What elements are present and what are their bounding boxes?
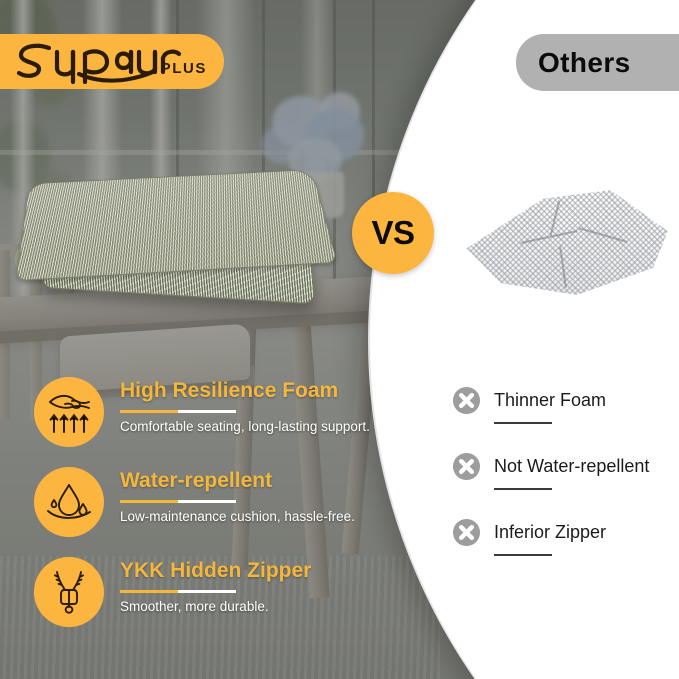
- drawback-row: Inferior Zipper: [452, 518, 672, 547]
- circle-x-icon: [452, 518, 481, 547]
- feature-list: High Resilience Foam Comfortable seating…: [34, 375, 384, 645]
- zipper-icon: [34, 557, 104, 627]
- drawback-item-not-water-repellent: Not Water-repellent: [452, 452, 672, 518]
- hand-on-foam-glyph: [45, 388, 93, 436]
- drawback-row: Thinner Foam: [452, 386, 672, 415]
- zipper-glyph: [45, 568, 93, 616]
- drawback-label: Not Water-repellent: [494, 456, 649, 477]
- our-product-image: [14, 168, 336, 318]
- feature-item-high-resilience-foam: High Resilience Foam Comfortable seating…: [34, 375, 384, 465]
- brand-logo-suffix: PLUS: [161, 60, 207, 77]
- versus-badge: VS: [352, 192, 434, 274]
- feature-item-water-repellent: Water-repellent Low-maintenance cushion,…: [34, 465, 384, 555]
- drawback-list: Thinner Foam Not Water-repellent Inferio: [452, 386, 672, 584]
- feature-divider: [120, 590, 236, 593]
- feature-title: YKK Hidden Zipper: [120, 559, 382, 583]
- competitor-product-image: [458, 188, 670, 296]
- brand-logo-mark: PLUS: [13, 40, 203, 84]
- hand-on-foam-icon: [34, 377, 104, 447]
- cushion-top-surface: [15, 169, 337, 281]
- others-badge-label: Others: [538, 47, 631, 79]
- drawback-divider: [494, 488, 552, 490]
- feature-subtitle: Smoother, more durable.: [120, 599, 382, 616]
- feature-divider: [120, 500, 236, 503]
- drawback-row: Not Water-repellent: [452, 452, 672, 481]
- circle-x-icon: [452, 386, 481, 415]
- drawback-label: Thinner Foam: [494, 390, 606, 411]
- brand-logo-badge: PLUS: [0, 34, 224, 89]
- feature-title: High Resilience Foam: [120, 379, 382, 403]
- feature-title: Water-repellent: [120, 469, 382, 493]
- water-droplet-icon: [34, 467, 104, 537]
- feature-subtitle: Low-maintenance cushion, hassle-free.: [120, 509, 382, 526]
- comparison-infographic: PLUS Others VS: [0, 0, 679, 679]
- drawback-item-thinner-foam: Thinner Foam: [452, 386, 672, 452]
- others-badge: Others: [516, 34, 679, 91]
- feature-text-block: YKK Hidden Zipper Smoother, more durable…: [120, 559, 382, 616]
- circle-x-icon: [452, 452, 481, 481]
- drawback-divider: [494, 554, 552, 556]
- water-droplet-glyph: [45, 478, 93, 526]
- feature-text-block: Water-repellent Low-maintenance cushion,…: [120, 469, 382, 526]
- drawback-item-inferior-zipper: Inferior Zipper: [452, 518, 672, 584]
- drawback-divider: [494, 422, 552, 424]
- feature-text-block: High Resilience Foam Comfortable seating…: [120, 379, 382, 436]
- feature-divider: [120, 410, 236, 413]
- drawback-label: Inferior Zipper: [494, 522, 606, 543]
- versus-label: VS: [371, 214, 414, 252]
- feature-item-ykk-hidden-zipper: YKK Hidden Zipper Smoother, more durable…: [34, 555, 384, 645]
- feature-subtitle: Comfortable seating, long-lasting suppor…: [120, 419, 382, 436]
